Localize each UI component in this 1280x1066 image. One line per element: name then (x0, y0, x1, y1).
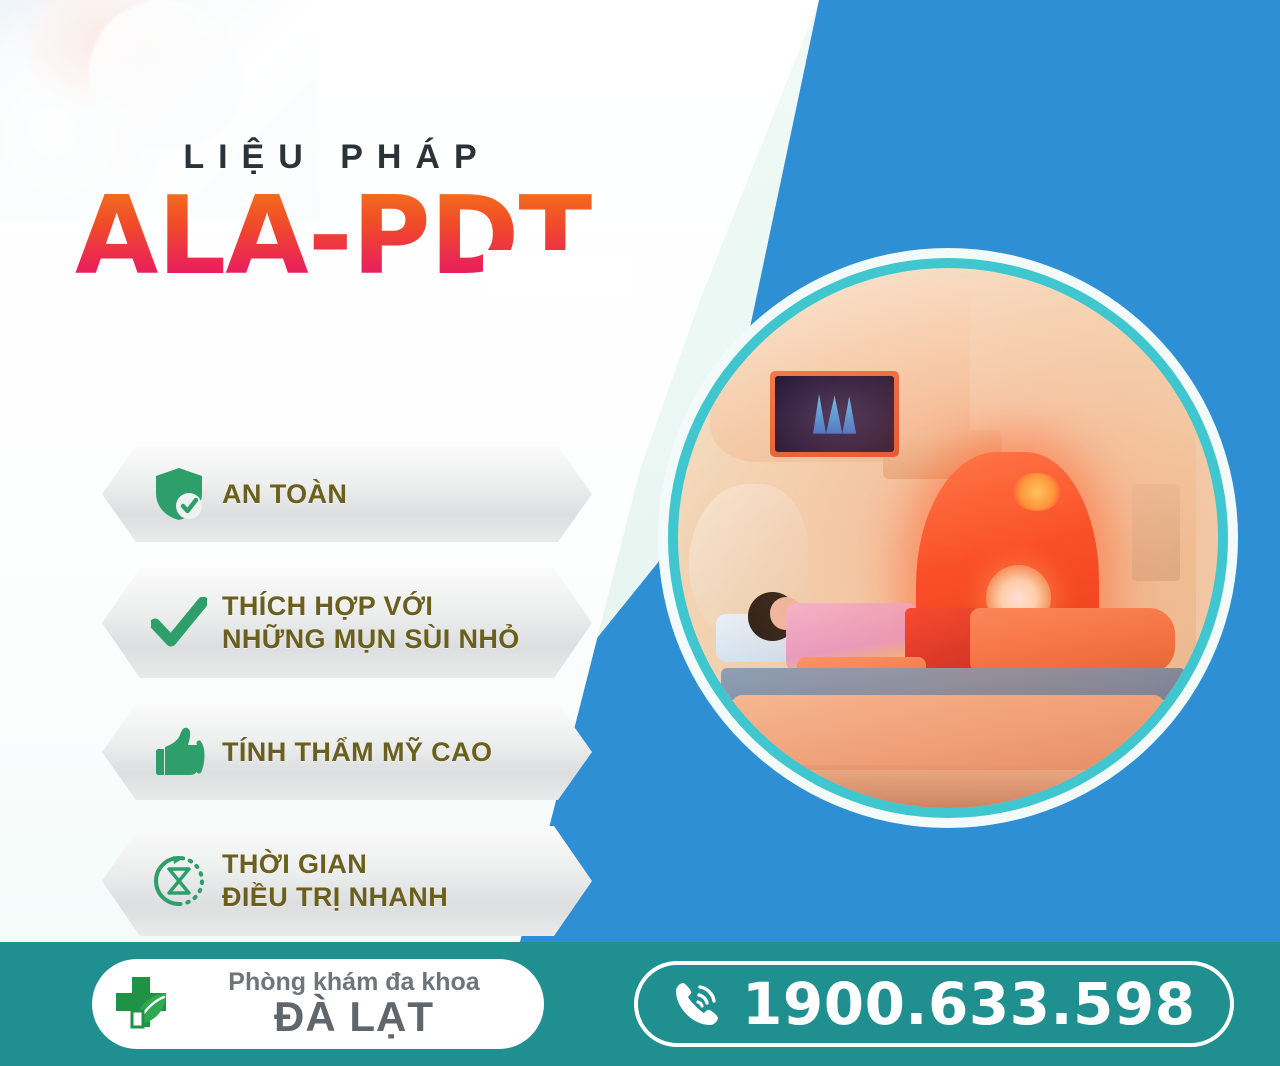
treatment-table-base (732, 695, 1164, 771)
feature-item-thoi-gian[interactable]: THỜI GIAN ĐIỀU TRỊ NHANH (102, 826, 592, 936)
warm-glow-spot (1013, 473, 1062, 511)
poster-canvas: LIỆU PHÁP ALA-PDT AN TOÀN (0, 0, 1280, 1066)
phone-cta-button[interactable]: 1900.633.598 (634, 961, 1234, 1047)
treatment-photo (678, 268, 1218, 808)
feature-item-tham-my[interactable]: TÍNH THẨM MỸ CAO (102, 704, 592, 800)
table-shadow (678, 765, 1218, 808)
thumbs-up-icon (136, 725, 222, 779)
feature-line-1: TÍNH THẨM MỸ CAO (222, 737, 492, 767)
clinic-name-block: Phòng khám đa khoa ĐÀ LẠT (190, 969, 544, 1038)
feature-label: AN TOÀN (222, 478, 347, 511)
feature-item-thich-hop[interactable]: THÍCH HỢP VỚI NHỮNG MỤN SÙI NHỎ (102, 568, 592, 678)
patient-legs (970, 608, 1175, 673)
treatment-photo-ring (668, 258, 1228, 818)
monitor-screen (775, 376, 895, 452)
phone-number: 1900.633.598 (742, 975, 1196, 1033)
feature-list: AN TOÀN THÍCH HỢP VỚI NHỮNG MỤN SÙI NHỎ (102, 446, 592, 962)
machine-side-panel (1132, 484, 1181, 581)
check-mark-icon (136, 597, 222, 649)
feature-line-2: NHỮNG MỤN SÙI NHỎ (222, 623, 520, 656)
footer-bar: Phòng khám đa khoa ĐÀ LẠT 1900.633.598 (0, 942, 1280, 1066)
white-mask-block (483, 250, 633, 302)
shield-check-icon (136, 466, 222, 522)
medical-cross-leaf-icon (92, 973, 190, 1035)
clinic-logo-pill[interactable]: Phòng khám đa khoa ĐÀ LẠT (92, 959, 544, 1049)
feature-line-1: AN TOÀN (222, 479, 347, 509)
feature-line-2: ĐIỀU TRỊ NHANH (222, 881, 448, 914)
feature-line-1: THÍCH HỢP VỚI (222, 590, 520, 623)
feature-line-1: THỜI GIAN (222, 848, 448, 881)
clinic-subtitle: Phòng khám đa khoa (228, 969, 479, 995)
feature-item-an-toan[interactable]: AN TOÀN (102, 446, 592, 542)
clinic-title: ĐÀ LẠT (274, 996, 434, 1039)
feature-label: THÍCH HỢP VỚI NHỮNG MỤN SÙI NHỎ (222, 590, 520, 656)
kicker-text: LIỆU PHÁP (0, 140, 660, 174)
feature-label: THỜI GIAN ĐIỀU TRỊ NHANH (222, 848, 448, 914)
hourglass-clock-icon (136, 852, 222, 910)
machine-monitor (770, 371, 900, 457)
feature-label: TÍNH THẨM MỸ CAO (222, 736, 492, 769)
ringing-phone-icon (666, 977, 728, 1031)
